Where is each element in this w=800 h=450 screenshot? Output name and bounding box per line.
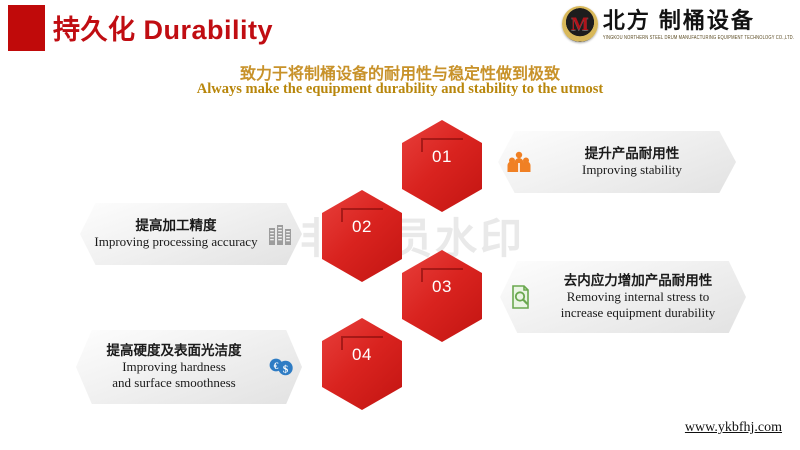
panel-step-04-text: 提高硬度及表面光洁度 Improving hardness and surfac… bbox=[84, 343, 264, 391]
logo-emblem-letter: M bbox=[571, 15, 589, 34]
panel-step-01[interactable]: 提升产品耐用性 Improving stability bbox=[498, 131, 736, 193]
panel-step-04[interactable]: 提高硬度及表面光洁度 Improving hardness and surfac… bbox=[76, 330, 302, 404]
hexagon-number: 01 bbox=[402, 147, 482, 167]
panel-step-03-title-en2: increase equipment durability bbox=[538, 305, 738, 321]
logo-name-en: YINGKOU NORTHERN STEEL DRUM MANUFACTURIN… bbox=[603, 34, 794, 40]
panel-step-02-title-cn: 提高加工精度 bbox=[88, 218, 264, 234]
bar-buildings-icon bbox=[264, 223, 298, 245]
panel-step-02-text: 提高加工精度 Improving processing accuracy bbox=[88, 218, 264, 250]
panel-step-01-title-en: Improving stability bbox=[536, 162, 728, 178]
svg-text:€: € bbox=[274, 362, 279, 372]
panel-step-02[interactable]: 提高加工精度 Improving processing accuracy bbox=[80, 203, 302, 265]
panel-step-01-title-cn: 提升产品耐用性 bbox=[536, 146, 728, 162]
page-title: 持久化 Durability bbox=[53, 8, 273, 47]
panel-step-03-title-en: Removing internal stress to bbox=[538, 289, 738, 305]
panel-step-02-title-en: Improving processing accuracy bbox=[88, 234, 264, 250]
hexagon-step-01[interactable]: 01 bbox=[402, 120, 482, 212]
hexagon-number: 04 bbox=[322, 345, 402, 365]
panel-step-03-title-cn: 去内应力增加产品耐用性 bbox=[538, 273, 738, 289]
currency-coins-icon: € $ bbox=[264, 356, 298, 378]
hexagon-number: 02 bbox=[322, 217, 402, 237]
svg-text:$: $ bbox=[283, 363, 289, 375]
panel-step-04-title-en: Improving hardness bbox=[84, 359, 264, 375]
subtitle-en: Always make the equipment durability and… bbox=[0, 81, 800, 98]
document-search-icon bbox=[504, 284, 538, 310]
logo-emblem-icon: M bbox=[562, 6, 598, 42]
panel-step-04-title-cn: 提高硬度及表面光洁度 bbox=[84, 343, 264, 359]
logo-text: 北方 制桶设备 YINGKOU NORTHERN STEEL DRUM MANU… bbox=[603, 9, 794, 39]
logo-name-cn: 北方 制桶设备 bbox=[603, 9, 794, 32]
hexagon-number: 03 bbox=[402, 277, 482, 297]
panel-step-03[interactable]: 去内应力增加产品耐用性 Removing internal stress to … bbox=[500, 261, 746, 333]
header-accent-block bbox=[8, 5, 45, 51]
hexagon-step-02[interactable]: 02 bbox=[322, 190, 402, 282]
company-logo: M 北方 制桶设备 YINGKOU NORTHERN STEEL DRUM MA… bbox=[562, 4, 794, 44]
footer-website-link[interactable]: www.ykbfhj.com bbox=[685, 420, 782, 436]
panel-step-04-title-en2: and surface smoothness bbox=[84, 375, 264, 391]
people-group-icon bbox=[502, 150, 536, 174]
hexagon-step-04[interactable]: 04 bbox=[322, 318, 402, 410]
panel-step-03-text: 去内应力增加产品耐用性 Removing internal stress to … bbox=[538, 273, 738, 321]
slide-canvas: 持久化 Durability M 北方 制桶设备 YINGKOU NORTHER… bbox=[0, 0, 800, 450]
panel-step-01-text: 提升产品耐用性 Improving stability bbox=[536, 146, 728, 178]
